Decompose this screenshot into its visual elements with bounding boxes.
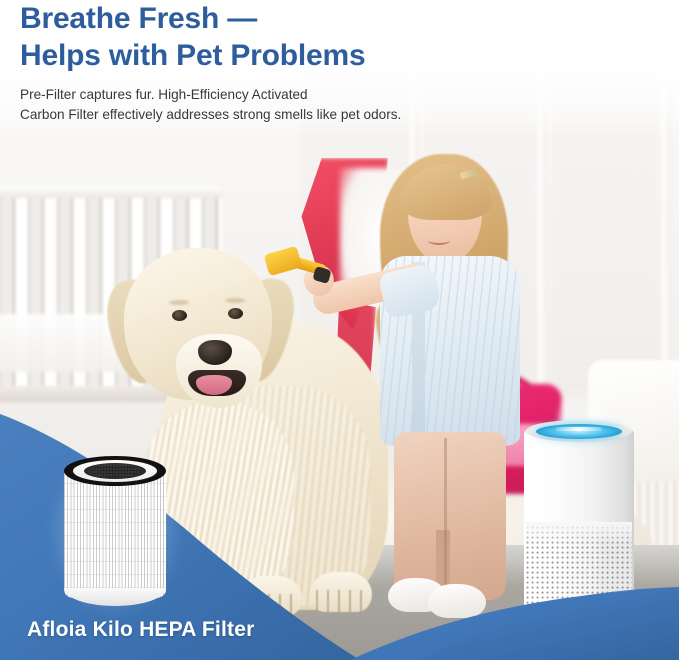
subcopy-text: Pre-Filter captures fur. High-Efficiency…	[20, 85, 540, 124]
dog-brow-left	[169, 300, 189, 305]
page-title: Breathe Fresh — Helps with Pet Problems	[20, 0, 540, 74]
product-banner: Breathe Fresh — Helps with Pet Problems …	[0, 0, 679, 660]
hepa-filter-bands	[64, 470, 166, 598]
dog-eye-left	[172, 310, 187, 321]
purifier-light-bar	[556, 427, 602, 431]
dog-brow-right	[225, 298, 245, 303]
girl-smile	[428, 236, 450, 245]
hepa-filter-product	[60, 450, 170, 612]
purifier-base	[526, 604, 632, 616]
hepa-filter-mesh-center	[89, 465, 141, 477]
dog-eye-right	[228, 308, 243, 319]
purifier-mesh-fade	[526, 522, 632, 544]
dog-head	[124, 248, 272, 400]
girl-pants	[394, 432, 506, 600]
dog-claws-left	[246, 594, 296, 616]
air-purifier	[524, 418, 634, 618]
product-caption: Afloia Kilo HEPA Filter	[27, 618, 254, 642]
girl-sock-right	[428, 584, 486, 618]
dog-paw-left	[240, 576, 302, 616]
girl	[352, 150, 552, 620]
headline-block: Breathe Fresh — Helps with Pet Problems …	[20, 0, 540, 124]
